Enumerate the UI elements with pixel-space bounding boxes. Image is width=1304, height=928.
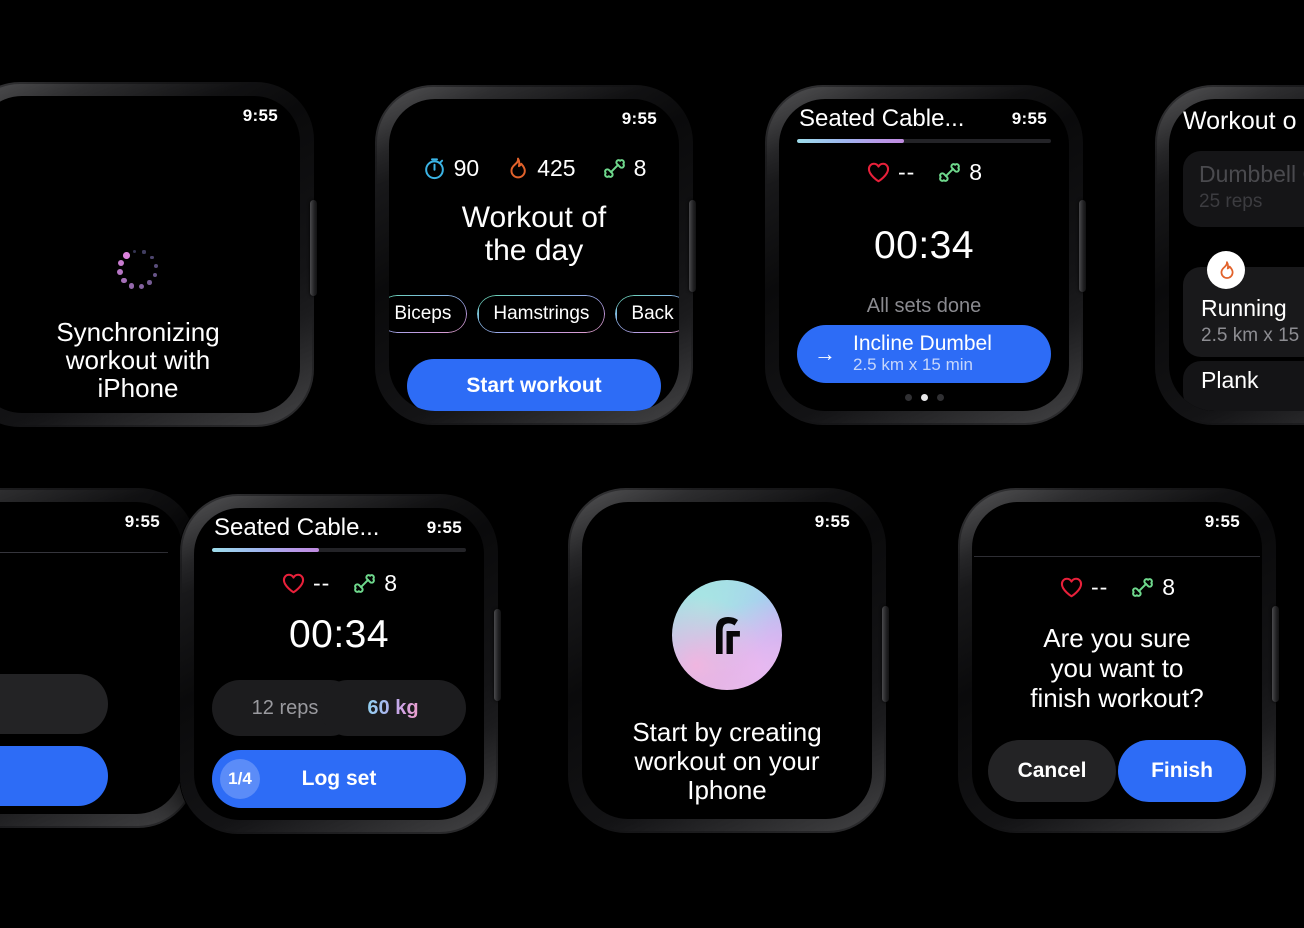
status-time: 9:55 (1012, 109, 1047, 129)
watch-screen-rest: Seated Cable... 9:55 -- (779, 99, 1069, 411)
stat-row: 90 425 (389, 155, 679, 182)
fi-app-logo (582, 580, 872, 690)
list-item-detail: 2.5 km x 15 m (1201, 325, 1304, 347)
stat-heart-rate-value: -- (313, 570, 330, 597)
watch-sync: 9:55 Synchronizing workout with iPhone (0, 82, 314, 427)
stat-duration: 90 (422, 155, 480, 182)
sync-line-3: iPhone (0, 374, 300, 402)
exercise-title: Seated Cable... (799, 105, 964, 133)
stat-duration-value: 90 (454, 155, 480, 182)
primary-button[interactable] (0, 746, 108, 806)
watch-workout-of-the-day: 9:55 90 425 (375, 85, 693, 425)
sync-line-1: Synchronizing (0, 318, 300, 346)
chip-label: Biceps (394, 303, 451, 325)
watch-finish-confirm: 9:55 -- (958, 488, 1276, 833)
workout-progress-bar (797, 139, 1051, 143)
stat-heart-rate: -- (1059, 574, 1108, 601)
confirm-line-2: you want to (972, 654, 1262, 684)
watch-partial-left: 9:55 8 (0, 488, 196, 828)
stat-exercises-value: 8 (969, 159, 982, 186)
status-time: 9:55 (1205, 512, 1240, 532)
stat-exercises: 8 (1130, 574, 1175, 601)
confirm-line-1: Are you sure (972, 624, 1262, 654)
chip-label: Hamstrings (493, 303, 589, 325)
watch-screen-logset: Seated Cable... 9:55 -- (194, 508, 484, 820)
watch-screen-onboarding: 9:55 Start by creating workout on your I… (582, 502, 872, 819)
page-dot[interactable] (937, 394, 944, 401)
watch-crown[interactable] (689, 200, 696, 292)
watch-log-set: Seated Cable... 9:55 -- (180, 494, 498, 834)
chip-back[interactable]: Back (615, 295, 679, 333)
exercise-title: Seated Cable... (214, 514, 379, 542)
list-item-upcoming[interactable]: Plank (1183, 361, 1304, 411)
onboarding-line-1: Start by creating (582, 718, 872, 747)
stat-heart-rate-value: -- (1091, 574, 1108, 601)
status-time: 9:55 (427, 518, 462, 538)
stat-row: -- 8 (972, 574, 1262, 601)
secondary-button[interactable] (0, 674, 108, 734)
cancel-label: Cancel (1018, 759, 1087, 783)
start-workout-label: Start workout (466, 374, 601, 398)
next-exercise-detail: 2.5 km x 15 min (853, 356, 973, 374)
flame-icon (1207, 251, 1245, 289)
watch-screen-finish: 9:55 -- (972, 502, 1262, 819)
page-dots[interactable] (779, 394, 1069, 401)
finish-label: Finish (1151, 759, 1213, 783)
arrow-right-icon: → (797, 341, 853, 367)
watch-screen-wod: 9:55 90 425 (389, 99, 679, 411)
watch-crown[interactable] (1272, 606, 1279, 702)
reps-value: 12 reps (252, 697, 319, 720)
chip-hamstrings[interactable]: Hamstrings (477, 295, 605, 333)
dumbbell-icon (1130, 575, 1155, 600)
stat-exercises: 8 (937, 159, 982, 186)
weight-value: 60 kg (367, 697, 418, 720)
wod-line-1: Workout of (389, 201, 679, 234)
watch-screen-list: Workout o Dumbbell C 25 reps Running 2.5… (1169, 99, 1304, 411)
list-item-name: Running (1201, 295, 1287, 322)
stat-exercises-value: 8 (384, 570, 397, 597)
stat-heart-rate: -- (866, 159, 915, 186)
onboarding-message: Start by creating workout on your Iphone (582, 718, 872, 805)
set-counter-badge: 1/4 (220, 759, 260, 799)
dumbbell-icon (352, 571, 377, 596)
wod-line-2: the day (389, 234, 679, 267)
chip-biceps[interactable]: Biceps (389, 295, 467, 333)
status-label: All sets done (779, 295, 1069, 318)
stat-calories-value: 425 (537, 155, 575, 182)
list-item-detail: 25 reps (1199, 191, 1262, 213)
heart-icon (866, 160, 891, 185)
list-item-active[interactable]: Running 2.5 km x 15 m (1183, 267, 1304, 357)
watch-screen-partial: 9:55 8 (0, 502, 182, 814)
heart-icon (281, 571, 306, 596)
set-timer-value: 00:34 (194, 613, 484, 657)
status-time: 9:55 (125, 512, 160, 532)
dumbbell-icon (937, 160, 962, 185)
watch-workout-list: Workout o Dumbbell C 25 reps Running 2.5… (1155, 85, 1304, 425)
stat-exercises-value: 8 (1162, 574, 1175, 601)
status-time: 9:55 (815, 512, 850, 532)
watch-onboarding: 9:55 Start by creating workout on your I… (568, 488, 886, 833)
workout-progress-bar (212, 548, 466, 552)
cancel-button[interactable]: Cancel (988, 740, 1116, 802)
stopwatch-icon (422, 156, 447, 181)
page-title: Workout o (1183, 107, 1296, 136)
list-item-name: Plank (1201, 367, 1259, 394)
watch-crown[interactable] (310, 200, 317, 296)
loading-spinner (0, 246, 300, 292)
start-workout-button[interactable]: Start workout (407, 359, 661, 411)
stat-row: -- 8 (779, 159, 1069, 186)
log-set-label: Log set (302, 767, 377, 791)
list-item-done[interactable]: Dumbbell C 25 reps (1183, 151, 1304, 227)
finish-button[interactable]: Finish (1118, 740, 1246, 802)
sync-message: Synchronizing workout with iPhone (0, 318, 300, 402)
heart-icon (1059, 575, 1084, 600)
stat-heart-rate: -- (281, 570, 330, 597)
next-exercise-button[interactable]: → Incline Dumbel 2.5 km x 15 min (797, 325, 1051, 383)
page-title: Workout of the day (389, 201, 679, 267)
muscle-group-chips: Biceps Hamstrings Back (389, 295, 679, 333)
weight-pill[interactable]: 60 kg (320, 680, 466, 736)
watch-crown[interactable] (1079, 200, 1086, 292)
stat-row: -- 8 (194, 570, 484, 597)
next-exercise-text: Incline Dumbel 2.5 km x 15 min (853, 333, 992, 374)
next-exercise-name: Incline Dumbel (853, 333, 992, 356)
screenshot-canvas: 9:55 Synchronizing workout with iPhone 9… (0, 0, 1304, 928)
stat-exercises: 8 (602, 155, 647, 182)
stat-heart-rate-value: -- (898, 159, 915, 186)
page-dot[interactable] (905, 394, 912, 401)
stat-exercises: 8 (352, 570, 397, 597)
flame-icon (505, 156, 530, 181)
watch-screen-sync: 9:55 Synchronizing workout with iPhone (0, 96, 300, 413)
confirm-question: Are you sure you want to finish workout? (972, 624, 1262, 714)
watch-crown[interactable] (494, 609, 501, 701)
log-set-button[interactable]: 1/4 Log set (212, 750, 466, 808)
watch-rest-timer: Seated Cable... 9:55 -- (765, 85, 1083, 425)
chip-label: Back (631, 303, 673, 325)
dumbbell-icon (602, 156, 627, 181)
rest-timer-value: 00:34 (779, 224, 1069, 268)
stat-calories: 425 (505, 155, 575, 182)
onboarding-line-2: workout on your (582, 747, 872, 776)
stat-exercises-value: 8 (634, 155, 647, 182)
sync-line-2: workout with (0, 346, 300, 374)
onboarding-line-3: Iphone (582, 776, 872, 805)
confirm-line-3: finish workout? (972, 684, 1262, 714)
status-time: 9:55 (243, 106, 278, 126)
page-dot-active[interactable] (921, 394, 928, 401)
list-item-name: Dumbbell C (1199, 161, 1304, 188)
watch-crown[interactable] (882, 606, 889, 702)
status-time: 9:55 (622, 109, 657, 129)
